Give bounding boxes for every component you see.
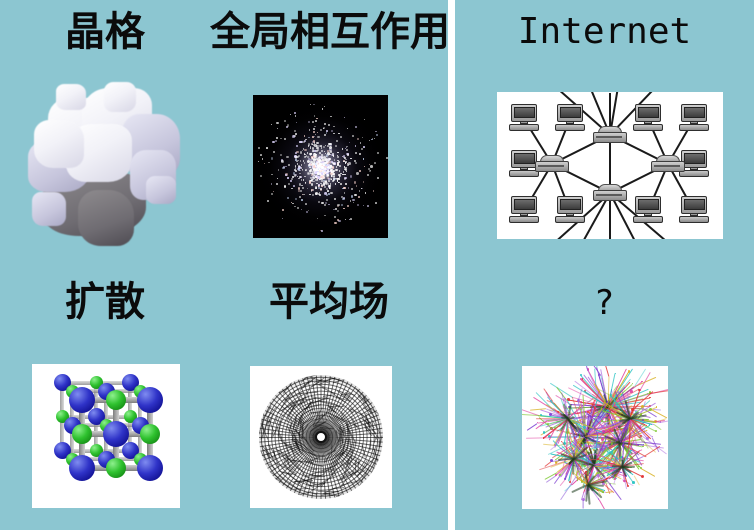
internet-map-visualization (522, 366, 668, 509)
lattice-atom (69, 387, 95, 413)
map-node (582, 378, 584, 380)
computer-icon (509, 104, 539, 132)
router-icon (593, 126, 627, 143)
map-filament (560, 479, 566, 486)
map-node (543, 431, 545, 433)
map-node (656, 406, 658, 408)
map-node (585, 471, 586, 472)
computer-icon (555, 196, 585, 224)
lattice-atom (72, 424, 92, 444)
label-global-interaction: 全局相互作用 (210, 12, 448, 52)
lattice-atom (137, 387, 163, 413)
computer-icon (633, 104, 663, 132)
label-question-mark: ? (455, 286, 754, 320)
map-filament (652, 409, 660, 411)
router-icon (593, 184, 627, 201)
map-filament (589, 459, 598, 460)
computer-icon (679, 104, 709, 132)
computer-icon (555, 104, 585, 132)
map-node (615, 373, 616, 374)
map-node (605, 457, 606, 458)
label-diffusion: 扩散 (0, 282, 210, 322)
lattice-atom (103, 421, 129, 447)
computer-icon (679, 196, 709, 224)
label-crystal-lattice: 晶格 (0, 12, 210, 52)
vertical-divider (448, 0, 455, 530)
lattice-atom (106, 458, 126, 478)
lattice-atom (106, 390, 126, 410)
map-filament (596, 366, 598, 367)
router-icon (651, 155, 685, 172)
map-node (543, 437, 544, 438)
label-internet: Internet (455, 14, 754, 50)
mean-field-complete-graph (250, 366, 392, 508)
computer-icon (509, 196, 539, 224)
lattice-atom (69, 455, 95, 481)
map-filament (603, 366, 610, 377)
map-node (655, 430, 658, 433)
computer-icon (633, 196, 663, 224)
map-node (628, 370, 630, 372)
map-filament (598, 499, 605, 509)
map-node (641, 475, 644, 478)
slide-canvas: 晶格 全局相互作用 Internet 扩散 平均场 ? (0, 0, 754, 530)
label-mean-field: 平均场 (210, 282, 448, 322)
map-node (627, 485, 629, 487)
map-node (579, 436, 580, 437)
router-icon (535, 155, 569, 172)
map-node (641, 405, 644, 408)
mean-field-center-hole (315, 431, 327, 443)
crystal-mineral-photo (18, 80, 198, 248)
globular-star-cluster (253, 95, 388, 238)
map-node (580, 374, 582, 376)
network-link (609, 93, 611, 239)
lattice-atom (140, 424, 160, 444)
map-filament (583, 500, 584, 509)
map-node (632, 481, 635, 484)
map-node (547, 423, 549, 425)
internet-router-topology (497, 92, 723, 239)
crystal-lattice-model (32, 364, 180, 508)
map-node (630, 450, 631, 451)
lattice-atom (137, 455, 163, 481)
map-node (604, 490, 605, 491)
